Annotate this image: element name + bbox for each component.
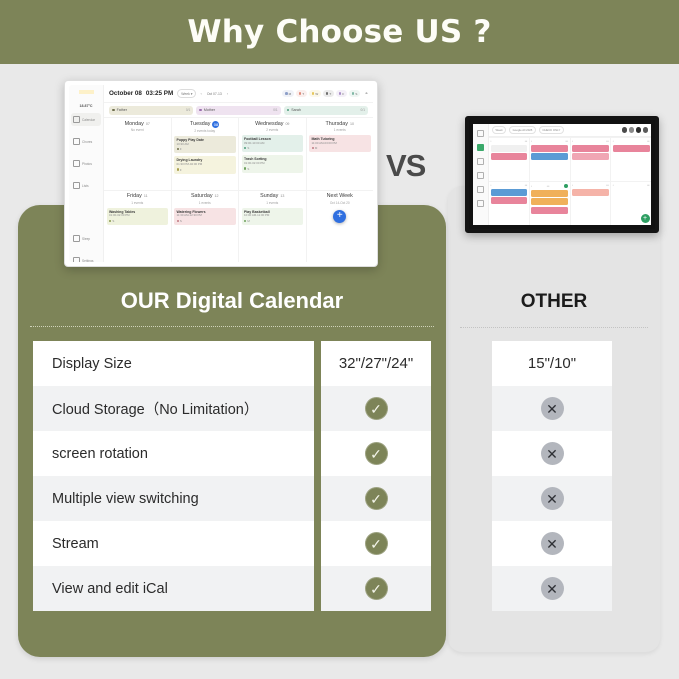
event-owner-label: F [180,147,182,151]
our-calendar-grid: Monday07No eventTuesday082 events todayP… [104,117,373,262]
avatar [643,127,649,133]
our-feature-column: Display SizeCloud Storage（No Limitation）… [33,341,314,611]
calendar-day-cell[interactable]: Sunday131 eventsPlay Basketball10:00 AM-… [239,191,307,263]
day-number: 11 [144,194,148,198]
our-calendar-topbar: October 08 03:25 PM Week ▾ ‹ Oct 07-13 ›… [104,85,373,103]
day-number: 10 [350,122,354,126]
event-owner: M [312,146,369,150]
other-view-selector[interactable]: Week [492,126,506,134]
other-day-header: •••• [613,140,650,143]
day-header: Tuesday08 [190,121,219,128]
event-time: 01:30 PM-02:00 PM [177,163,234,166]
chevron-left-icon[interactable]: ‹ [200,91,201,96]
other-calendar-event[interactable] [491,145,528,152]
our-title-divider [30,326,434,327]
weekday-chip[interactable]: S [349,90,360,96]
calendar-event[interactable]: Watering Flowers11:30 AM-12:30 PMS [174,208,236,225]
event-owner: F [177,168,234,172]
calendar-date: October 08 [109,90,142,97]
calendar-day-cell[interactable]: Friday111 eventsWashing Tables01:00-02:0… [104,191,172,263]
calendar-day-cell[interactable]: Next WeekOct 14-Oct 20+ [307,191,374,263]
calendar-event[interactable]: Football Lesson09:00-10:00 AMS [242,135,304,152]
table-row: ✓ [321,566,431,611]
person-name: Mother [204,108,215,112]
other-title-chip: Google All 2025 [509,126,536,134]
other-today-badge [564,184,568,188]
event-owner-dot [244,147,246,149]
day-number: 07 [146,122,150,126]
other-day-cell[interactable]: •••• [489,138,530,181]
other-calendar-event[interactable] [531,198,568,205]
add-event-button[interactable]: + [333,210,346,223]
event-time: 01:00-02:00 PM [244,162,301,165]
weekday-chips: MTWTFS [282,90,360,96]
event-owner-label: S [247,146,249,150]
other-day-cell[interactable]: •••• [571,182,612,225]
event-owner: M [244,219,301,223]
event-owner-label: F [180,168,182,172]
sidebar-item-calendar[interactable]: Calendar [71,113,101,126]
other-calendar-event[interactable] [491,197,528,204]
today-badge: 08 [212,121,219,128]
day-header: Monday07 [125,121,150,127]
sidebar-item-settings[interactable]: Settings [71,254,101,262]
check-icon: ✓ [365,442,388,465]
day-subtitle: 1 events [334,128,346,132]
other-device-screenshot: Week Google All 2025 CHECK ONLY ••••••••… [465,116,659,233]
calendar-event[interactable]: Washing Tables01:00-02:00 PMS [107,208,169,225]
other-day-header: •••• [531,140,568,143]
event-owner: S [244,146,301,150]
page-root: Why Choose US ? VS OUR Digital Calendar … [0,0,679,679]
calendar-week-row: Friday111 eventsWashing Tables01:00-02:0… [104,190,373,263]
other-day-number: • [613,140,614,143]
sleep-icon [73,235,80,242]
chip-label: S [355,92,357,96]
other-day-number: • [531,140,532,143]
event-owner-label: M [315,146,317,150]
other-calendar-event[interactable] [572,145,609,152]
other-day-name: ••• [606,184,609,187]
table-row: ✕ [492,431,612,476]
chip-label: M [289,92,292,96]
calendar-week-row: Monday07No eventTuesday082 events todayP… [104,117,373,190]
other-calendar-event[interactable] [613,145,650,152]
calendar-time: 03:25 PM [146,90,173,97]
sidebar-item-chores[interactable]: Chores [71,135,101,148]
our-value: 32"/27"/24" [339,355,413,372]
cross-icon: ✕ [541,487,564,510]
sidebar-item-label: Lists [82,184,89,188]
other-calendar-event[interactable] [531,207,568,214]
day-subtitle: 2 events [266,128,278,132]
sidebar-item-label: Chores [82,140,92,144]
calendar-day-cell[interactable]: Thursday101 eventsMath Tutoring11:00 AM-… [307,118,374,190]
avatar [629,127,635,133]
chip-dot [339,92,342,95]
feature-label: Multiple view switching [52,491,199,507]
gear-icon [73,257,80,262]
event-time: 11:00 AM-03:00 PM [312,142,369,145]
photo-icon [73,160,80,167]
day-subtitle: Oct 14-Oct 20 [330,201,350,205]
feature-label: Display Size [52,356,132,372]
calendar-day-cell[interactable]: Saturday121 eventsWatering Flowers11:30 … [172,191,240,263]
date-range-nav[interactable]: ‹ Oct 07-13 › [200,90,228,97]
our-comparison-table: Display SizeCloud Storage（No Limitation）… [33,341,431,611]
gear-icon[interactable] [477,200,484,207]
chevron-right-icon[interactable]: › [227,91,228,96]
day-name: Sunday [260,193,278,199]
event-owner-dot [244,167,246,169]
other-calendar-event[interactable] [531,145,568,152]
calendar-event[interactable]: Trash Sorting01:00-02:00 PMS [242,155,304,172]
page-title: Why Choose US ? [187,14,491,50]
event-owner-label: S [112,219,114,223]
other-calendar-event[interactable] [572,153,609,160]
other-day-cell[interactable]: •••• [571,138,612,181]
other-day-name: ••• [647,140,650,143]
chip-label: T [329,92,331,96]
chip-dot [299,92,302,95]
other-day-header: •••• [572,140,609,143]
other-label-chip: CHECK ONLY [539,126,564,134]
calendar-day-cell[interactable]: Monday07No event [104,118,172,190]
other-calendar-event[interactable] [531,153,568,160]
day-name: Wednesday [255,121,283,127]
other-day-name: ••• [565,140,568,143]
cross-icon: ✕ [541,397,564,420]
day-header: Sunday13 [260,193,284,199]
event-owner-dot [177,220,179,222]
other-add-button[interactable]: + [641,214,650,223]
table-row: Stream [33,521,314,566]
other-day-header: •••• [491,140,528,143]
other-calendar-event[interactable] [531,190,568,197]
calendar-event[interactable]: Puppy Play Date10:30 AMF [174,136,236,153]
sidebar-item-lists[interactable]: Lists [71,179,101,192]
event-owner-dot [312,147,314,149]
view-selector[interactable]: Week ▾ [177,89,196,98]
person-chip[interactable]: Father0/1 [109,106,193,115]
other-day-header: •••• [491,184,528,187]
day-subtitle: 1 events [266,201,278,205]
table-row: Cloud Storage（No Limitation） [33,386,314,431]
other-day-number: • [491,140,492,143]
table-row: ✕ [492,566,612,611]
chip-dot [285,92,288,95]
event-time: 01:00-02:00 PM [109,214,166,217]
day-header: Next Week [327,193,353,199]
weekday-chip[interactable]: T [323,90,334,96]
other-value: 15"/10" [528,355,576,372]
feature-label: screen rotation [52,446,148,462]
person-count: 0/1 [186,108,190,112]
other-calendar-sidebar [473,124,489,225]
our-calendar-main: October 08 03:25 PM Week ▾ ‹ Oct 07-13 ›… [104,85,373,262]
other-day-header: •••• [613,184,650,187]
table-row: ✓ [321,431,431,476]
sidebar-item-label: Sleep [82,237,90,241]
other-day-number: • [491,184,492,187]
table-row: 15"/10" [492,341,612,386]
date-range-label: Oct 07-13 [204,90,225,97]
calendar-icon [73,116,80,123]
other-day-cell[interactable]: •••• [611,138,651,181]
star-icon [73,138,80,145]
weekday-chip[interactable]: F [336,90,347,96]
weekday-chip[interactable]: M [282,90,293,96]
table-row: Display Size [33,341,314,386]
event-owner-dot [177,148,179,150]
avatar [636,127,642,133]
event-time: 11:30 AM-12:30 PM [177,214,234,217]
other-day-cell[interactable]: ••••+ [611,182,651,225]
chip-dot [352,92,355,95]
calendar-icon[interactable] [477,144,484,151]
other-column-title: OTHER [448,291,660,313]
check-icon: ✓ [365,397,388,420]
table-row: 32"/27"/24" [321,341,431,386]
other-day-name: ••• [525,184,528,187]
our-value-column: 32"/27"/24"✓✓✓✓✓ [321,341,431,611]
cross-icon: ✕ [541,577,564,600]
person-name: Sarah [291,108,301,112]
our-calendar-app: 18.87°C CalendarChoresPhotosListsSleepSe… [69,85,373,262]
our-device-screenshot: 18.87°C CalendarChoresPhotosListsSleepSe… [64,80,378,267]
feature-label: Stream [52,536,99,552]
day-name: Monday [125,121,144,127]
event-owner-dot [244,220,246,222]
event-owner-dot [109,220,111,222]
event-owner: S [177,219,234,223]
table-row: ✕ [492,476,612,521]
chip-label: F [342,92,344,96]
cross-icon: ✕ [541,442,564,465]
check-icon: ✓ [365,487,388,510]
table-row: ✕ [492,521,612,566]
sidebar-item-label: Photos [82,162,92,166]
day-number: 13 [280,194,284,198]
person-count: 0/1 [361,108,365,112]
feature-label: View and edit iCal [52,581,168,597]
chip-label: W [315,92,318,96]
event-time: 10:00 AM-11:00 PM [244,214,301,217]
day-name: Friday [127,193,142,199]
person-dot [112,109,115,112]
event-owner: F [177,147,234,151]
other-calendar-event[interactable] [491,153,528,160]
other-avatar-group [622,127,649,133]
day-header: Saturday12 [191,193,219,199]
other-week-row: •••••••••••••••• [489,137,651,181]
event-owner-label: S [180,219,182,223]
sidebar-item-label: Calendar [82,118,95,122]
table-row: ✓ [321,386,431,431]
day-header: Wednesday09 [255,121,289,127]
other-day-number: • [531,185,532,188]
day-name: Tuesday [190,121,210,127]
other-calendar-main: Week Google All 2025 CHECK ONLY ••••••••… [489,124,651,225]
table-row: ✓ [321,476,431,521]
table-row: View and edit iCal [33,566,314,611]
person-dot [287,109,290,112]
other-day-header: •••• [531,184,568,188]
person-chip[interactable]: Mother0/1 [196,106,280,115]
menu-icon[interactable] [477,130,484,137]
person-count: 0/1 [273,108,277,112]
list-icon[interactable] [477,172,484,179]
other-calendar-grid: ••••••••••••••••••••••••••••••••+ [489,137,651,225]
other-day-cell[interactable]: •••• [530,182,571,225]
other-calendar-event[interactable] [572,189,609,196]
other-day-name: ••• [525,140,528,143]
table-row: Multiple view switching [33,476,314,521]
chip-dot [326,92,329,95]
table-row: screen rotation [33,431,314,476]
our-people-row: Father0/1Mother0/1Sarah0/1 [104,103,373,117]
event-owner: S [109,219,166,223]
event-owner: S [244,167,301,171]
header-banner: Why Choose US ? [0,0,679,64]
temperature-label: 18.87°C [79,104,92,108]
chip-dot [312,92,315,95]
check-icon: ✓ [365,532,388,555]
other-day-number: • [613,184,614,187]
other-calendar-topbar: Week Google All 2025 CHECK ONLY [489,124,651,137]
other-title-divider [460,327,648,328]
calendar-event[interactable]: Math Tutoring11:00 AM-03:00 PMM [309,135,371,152]
other-day-cell[interactable]: •••• [489,182,530,225]
day-name: Next Week [327,193,353,199]
check-icon: ✓ [365,577,388,600]
sidebar-item-sleep[interactable]: Sleep [71,232,101,245]
calendar-event[interactable]: Drying Laundry01:30 PM-02:00 PMF [174,156,236,173]
other-day-number: • [572,184,573,187]
sidebar-item-label: Settings [82,259,94,263]
day-subtitle: 1 events [199,201,211,205]
day-subtitle: 1 events [131,201,143,205]
other-comparison-table: 15"/10"✕✕✕✕✕ [492,341,612,611]
person-dot [199,109,202,112]
music-icon[interactable] [477,158,484,165]
vs-label: VS [386,148,425,184]
table-row: ✕ [492,386,612,431]
other-calendar-app: Week Google All 2025 CHECK ONLY ••••••••… [473,124,651,225]
table-row: ✓ [321,521,431,566]
event-time: 09:00-10:00 AM [244,142,301,145]
calendar-day-cell[interactable]: Tuesday082 events todayPuppy Play Date10… [172,118,240,190]
event-owner-label: S [247,167,249,171]
weekday-chip[interactable]: W [309,90,321,96]
person-name: Father [117,108,127,112]
other-week-row: ••••••••••••••••+ [489,181,651,225]
our-column-title: OUR Digital Calendar [18,288,446,314]
other-calendar-event[interactable] [491,189,528,196]
sidebar-item-photos[interactable]: Photos [71,157,101,170]
calendar-event[interactable]: Play Basketball10:00 AM-11:00 PMM [242,208,304,225]
event-owner-label: M [247,219,249,223]
list-icon [73,182,80,189]
weekday-chip[interactable]: T [296,90,307,96]
day-name: Thursday [326,121,348,127]
day-subtitle: 2 events today [194,129,215,133]
day-subtitle: No event [131,128,144,132]
event-owner-dot [177,168,179,170]
other-day-name: ••• [606,140,609,143]
day-number: 09 [285,122,289,126]
calendar-day-cell[interactable]: Wednesday092 eventsFootball Lesson09:00-… [239,118,307,190]
our-calendar-sidebar: 18.87°C CalendarChoresPhotosListsSleepSe… [69,85,104,262]
avatar [622,127,628,133]
day-header: Thursday10 [326,121,354,127]
chip-label: T [302,92,304,96]
other-day-name: ••• [647,184,650,187]
other-day-cell[interactable]: •••• [530,138,571,181]
other-day-header: •••• [572,184,609,187]
other-day-name: ••• [547,185,550,188]
day-header: Friday11 [127,193,148,199]
cross-icon: ✕ [541,532,564,555]
other-day-number: • [572,140,573,143]
person-chip[interactable]: Sarah0/1 [284,106,368,115]
feature-label: Cloud Storage（No Limitation） [52,398,258,419]
wifi-icon: ◓ [365,91,368,97]
day-name: Saturday [191,193,213,199]
day-number: 12 [215,194,219,198]
people-icon[interactable] [477,186,484,193]
event-time: 10:30 AM [177,143,234,146]
